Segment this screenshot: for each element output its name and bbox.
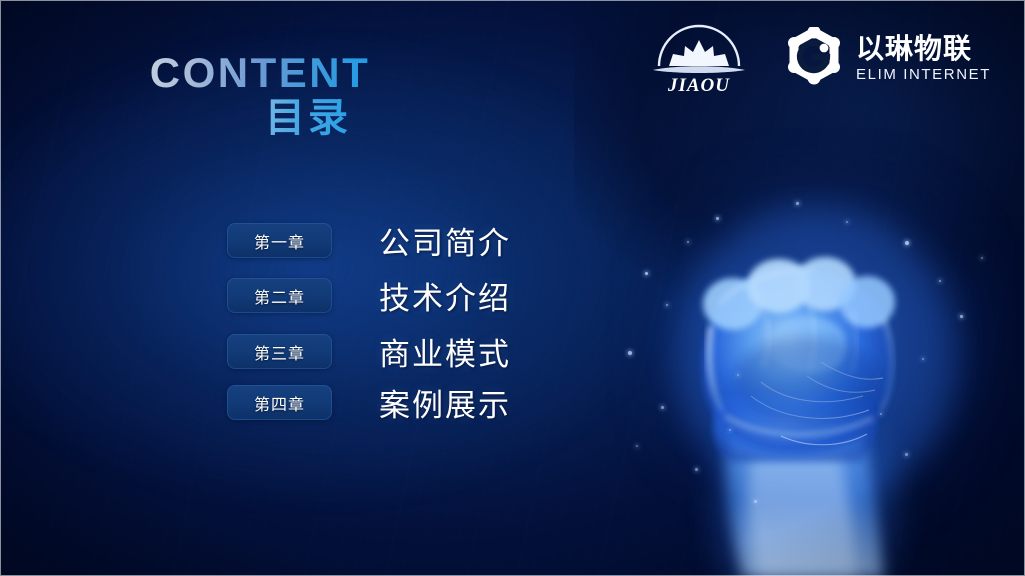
- toc-row[interactable]: 第三章 商业模式: [227, 333, 511, 370]
- chapter-title-2[interactable]: 技术介绍: [379, 273, 511, 318]
- chapter-badge-3-label: 第三章: [254, 340, 305, 364]
- chapter-badge-3[interactable]: 第三章: [227, 334, 332, 369]
- jiaou-emblem-icon: JIAOU: [649, 22, 749, 94]
- slide-heading: CONTENT 目录: [0, 52, 520, 139]
- elim-wordmark: 以琳物联 ELIM INTERNET: [856, 35, 991, 82]
- chapter-title-1[interactable]: 公司简介: [379, 218, 511, 263]
- toc-row[interactable]: 第二章 技术介绍: [227, 277, 511, 314]
- elim-molecule-g-icon: [783, 27, 845, 89]
- chapter-badge-4-label: 第四章: [254, 391, 305, 415]
- jiaou-logo: JIAOU: [649, 22, 749, 94]
- toc-row[interactable]: 第四章 案例展示: [227, 384, 511, 421]
- heading-chinese: 目录: [169, 97, 351, 139]
- chapter-title-4[interactable]: 案例展示: [379, 380, 511, 425]
- toc-row[interactable]: 第一章 公司简介: [227, 222, 511, 259]
- logo-group: JIAOU 以琳物联 ELIM INTERNET: [649, 22, 991, 94]
- table-of-contents: 第一章 公司简介 第二章 技术介绍 第三章 商业模式 第四章 案例展示: [227, 222, 511, 421]
- presentation-slide: CONTENT 目录 JIAOU: [0, 0, 1025, 576]
- chapter-badge-2[interactable]: 第二章: [227, 278, 332, 313]
- chapter-badge-2-label: 第二章: [254, 284, 305, 308]
- chapter-badge-1-label: 第一章: [254, 229, 305, 253]
- chapter-badge-4[interactable]: 第四章: [227, 385, 332, 420]
- chapter-badge-1[interactable]: 第一章: [227, 223, 332, 258]
- chapter-title-3[interactable]: 商业模式: [379, 329, 511, 374]
- svg-text:JIAOU: JIAOU: [667, 75, 730, 94]
- elim-name-english: ELIM INTERNET: [856, 67, 991, 82]
- elim-logo: 以琳物联 ELIM INTERNET: [783, 27, 991, 89]
- heading-english: CONTENT: [150, 52, 371, 95]
- elim-name-chinese: 以琳物联: [856, 35, 991, 63]
